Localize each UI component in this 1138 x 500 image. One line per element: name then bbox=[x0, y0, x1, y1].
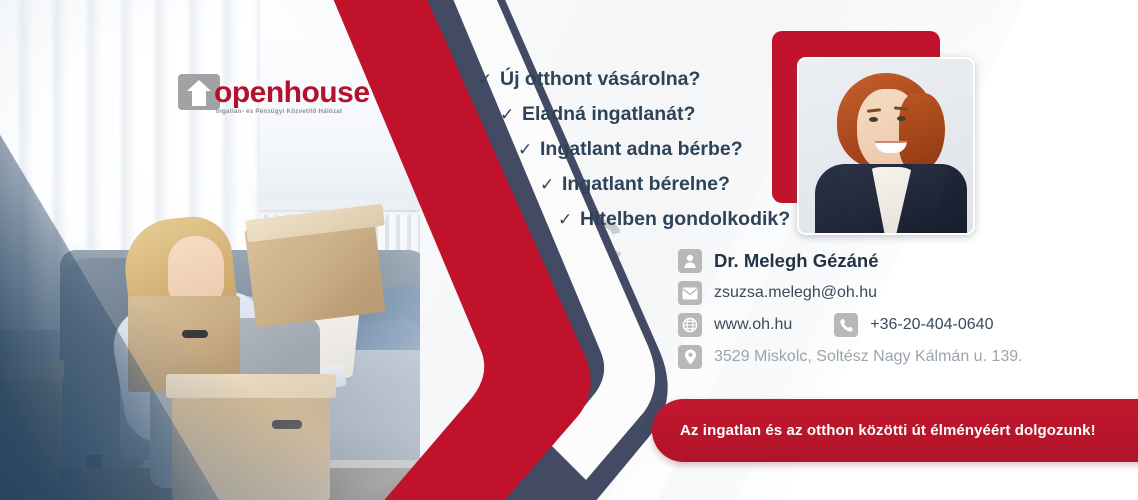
list-item-label: Új otthont vásárolna? bbox=[500, 62, 700, 96]
list-item: ✓ Ingatlant adna bérbe? bbox=[518, 132, 792, 167]
contact-row-email[interactable]: zsuzsa.melegh@oh.hu bbox=[678, 281, 1098, 305]
agent-name: Dr. Melegh Gézáné bbox=[714, 250, 879, 272]
check-icon: ✓ bbox=[540, 168, 562, 202]
contact-block: Dr. Melegh Gézáné zsuzsa.melegh@oh.hu ww… bbox=[678, 249, 1098, 377]
list-item-label: Ingatlant adna bérbe? bbox=[540, 132, 743, 166]
benefits-list: ✓ Új otthont vásárolna? ✓ Eladná ingatla… bbox=[462, 62, 792, 237]
phone-group: +36-20-404-0640 bbox=[834, 313, 993, 337]
check-icon: ✓ bbox=[558, 203, 580, 237]
agent-portrait bbox=[772, 31, 972, 236]
slogan-banner: Az ingatlan és az otthon közötti út élmé… bbox=[652, 399, 1138, 462]
address-text: 3529 Miskolc, Soltész Nagy Kálmán u. 139… bbox=[714, 348, 1023, 366]
email-link[interactable]: zsuzsa.melegh@oh.hu bbox=[714, 284, 877, 302]
website-link[interactable]: www.oh.hu bbox=[714, 316, 792, 334]
list-item: ✓ Új otthont vásárolna? bbox=[478, 62, 792, 97]
contact-row-name: Dr. Melegh Gézáné bbox=[678, 249, 1098, 273]
person-icon bbox=[678, 249, 702, 273]
contact-row-address: 3529 Miskolc, Soltész Nagy Kálmán u. 139… bbox=[678, 345, 1098, 369]
photo-right-fade bbox=[330, 0, 420, 500]
list-item: ✓ Hitelben gondolkodik? bbox=[558, 202, 792, 237]
list-item-label: Hitelben gondolkodik? bbox=[580, 202, 790, 236]
list-item-label: Eladná ingatlanát? bbox=[522, 97, 695, 131]
logo-wordmark: openhouse bbox=[214, 76, 370, 110]
contact-row-web-phone: www.oh.hu +36-20-404-0640 bbox=[678, 313, 1098, 337]
check-icon: ✓ bbox=[518, 133, 540, 167]
check-icon: ✓ bbox=[500, 98, 522, 132]
portrait-eye-right bbox=[897, 116, 906, 121]
list-item-label: Ingatlant bérelne? bbox=[562, 167, 730, 201]
list-item: ✓ Eladná ingatlanát? bbox=[500, 97, 792, 132]
real-estate-banner: openhouse Ingatlan- és Pénzügyi Közvetít… bbox=[0, 0, 1138, 500]
globe-icon bbox=[678, 313, 702, 337]
phone-link[interactable]: +36-20-404-0640 bbox=[870, 316, 993, 334]
logo-subtitle: Ingatlan- és Pénzügyi Közvetítő Hálózat bbox=[216, 108, 342, 115]
slogan-text: Az ingatlan és az otthon közötti út élmé… bbox=[680, 422, 1096, 439]
envelope-icon bbox=[678, 281, 702, 305]
check-icon: ✓ bbox=[478, 63, 500, 97]
openhouse-logo: openhouse Ingatlan- és Pénzügyi Közvetít… bbox=[178, 72, 342, 128]
portrait-eye-left bbox=[869, 117, 878, 122]
map-pin-icon bbox=[678, 345, 702, 369]
portrait-frame bbox=[797, 57, 975, 235]
list-item: ✓ Ingatlant bérelne? bbox=[540, 167, 792, 202]
phone-icon bbox=[834, 313, 858, 337]
